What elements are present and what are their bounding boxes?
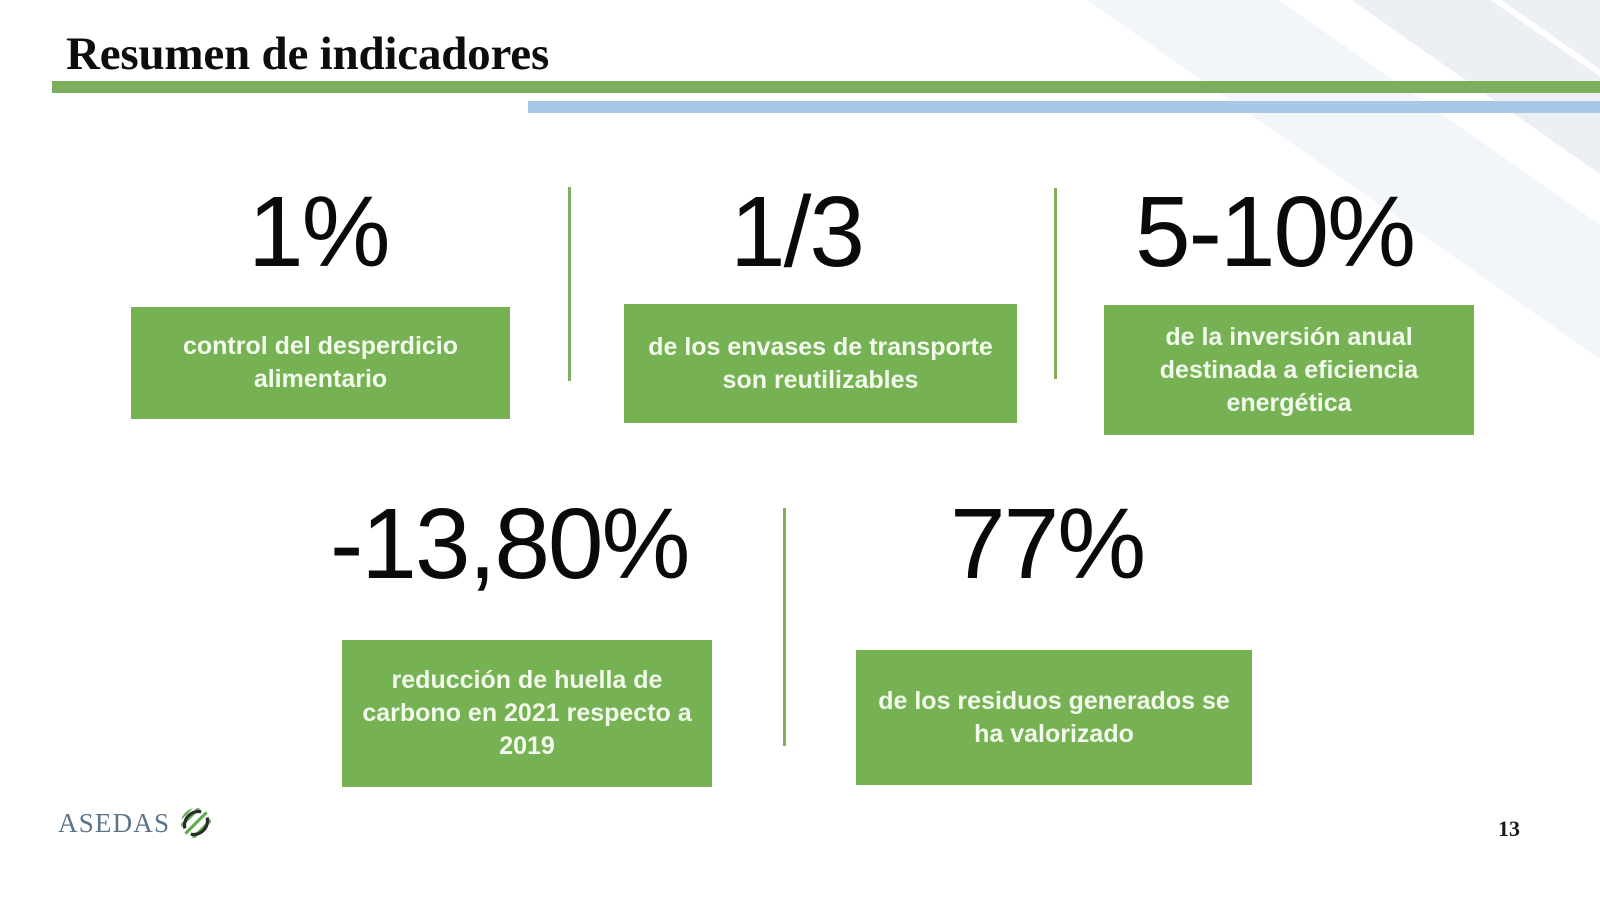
metric-caption-5: de los residuos generados se ha valoriza…: [856, 650, 1252, 785]
metric-value-5: 77%: [950, 494, 1144, 594]
metric-value-2: 1/3: [730, 182, 863, 282]
metric-caption-1: control del desperdicio alimentario: [131, 307, 510, 419]
metric-caption-4: reducción de huella de carbono en 2021 r…: [342, 640, 712, 787]
metric-caption-3: de la inversión anual destinada a eficie…: [1104, 305, 1474, 435]
page-number: 13: [1498, 816, 1520, 842]
asedas-logo-wordmark: ASEDAS: [58, 808, 170, 839]
divider-top-1: [568, 187, 571, 381]
asedas-logo-mark-icon: [179, 806, 213, 840]
metric-value-3: 5-10%: [1135, 182, 1414, 282]
asedas-logo: ASEDAS: [58, 806, 213, 840]
divider-bottom-1: [783, 508, 786, 746]
metric-value-1: 1%: [248, 182, 389, 282]
slide-canvas: Resumen de indicadores 1% control del de…: [0, 0, 1600, 900]
diagonal-watermark-pattern: [0, 0, 1600, 900]
metric-value-4: -13,80%: [330, 494, 688, 594]
header-rule-green: [52, 81, 1600, 93]
metric-caption-2: de los envases de transporte son reutili…: [624, 304, 1017, 423]
header-rule-blue: [528, 101, 1600, 113]
page-title: Resumen de indicadores: [66, 27, 549, 81]
divider-top-2: [1054, 188, 1057, 379]
